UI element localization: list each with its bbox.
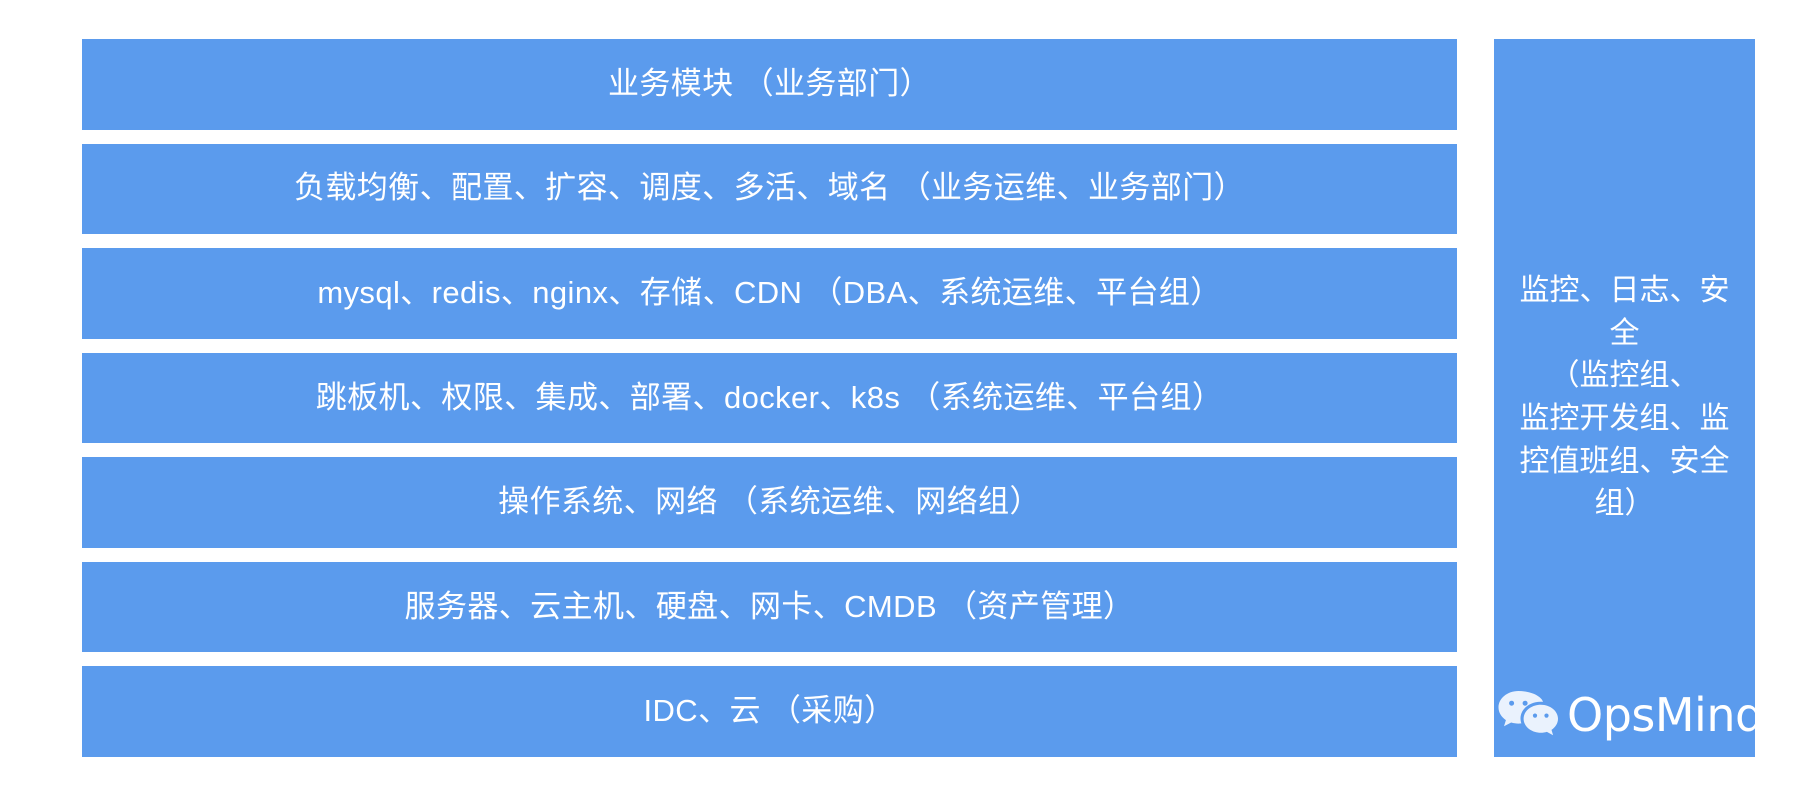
layer-label: 操作系统、网络 （系统运维、网络组） <box>498 483 1041 522</box>
layer-bar-business-ops: 负载均衡、配置、扩容、调度、多活、域名 （业务运维、业务部门） <box>82 144 1457 235</box>
side-panel-line-1: 监控、日志、安 <box>1500 270 1749 313</box>
layer-label: IDC、云 （采购） <box>644 692 896 731</box>
layer-bar-platform: 跳板机、权限、集成、部署、docker、k8s （系统运维、平台组） <box>82 353 1457 444</box>
side-panel-line-2: 全 <box>1500 313 1749 356</box>
layer-label: 服务器、云主机、硬盘、网卡、CMDB （资产管理） <box>405 588 1135 627</box>
layer-bar-middleware: mysql、redis、nginx、存储、CDN （DBA、系统运维、平台组） <box>82 248 1457 339</box>
layer-bar-business-module: 业务模块 （业务部门） <box>82 39 1457 130</box>
side-panel-line-5: 控值班组、安全 <box>1500 441 1749 484</box>
layer-stack: 业务模块 （业务部门） 负载均衡、配置、扩容、调度、多活、域名 （业务运维、业务… <box>82 39 1457 757</box>
side-panel-line-4: 监控开发组、监 <box>1500 398 1749 441</box>
side-panel-label: 监控、日志、安 全 （监控组、 监控开发组、监 控值班组、安全 组） <box>1500 270 1749 526</box>
layer-bar-os-network: 操作系统、网络 （系统运维、网络组） <box>82 457 1457 548</box>
layer-label: mysql、redis、nginx、存储、CDN （DBA、系统运维、平台组） <box>317 274 1221 313</box>
layer-label: 业务模块 （业务部门） <box>608 65 931 104</box>
side-panel-line-6: 组） <box>1500 483 1749 526</box>
architecture-diagram: 业务模块 （业务部门） 负载均衡、配置、扩容、调度、多活、域名 （业务运维、业务… <box>0 0 1805 786</box>
side-panel-monitoring-security: 监控、日志、安 全 （监控组、 监控开发组、监 控值班组、安全 组） <box>1494 39 1755 757</box>
layer-label: 跳板机、权限、集成、部署、docker、k8s （系统运维、平台组） <box>316 379 1224 418</box>
side-panel-line-3: （监控组、 <box>1500 355 1749 398</box>
layer-bar-hardware: 服务器、云主机、硬盘、网卡、CMDB （资产管理） <box>82 562 1457 653</box>
layer-label: 负载均衡、配置、扩容、调度、多活、域名 （业务运维、业务部门） <box>294 169 1245 208</box>
layer-bar-facility: IDC、云 （采购） <box>82 666 1457 757</box>
